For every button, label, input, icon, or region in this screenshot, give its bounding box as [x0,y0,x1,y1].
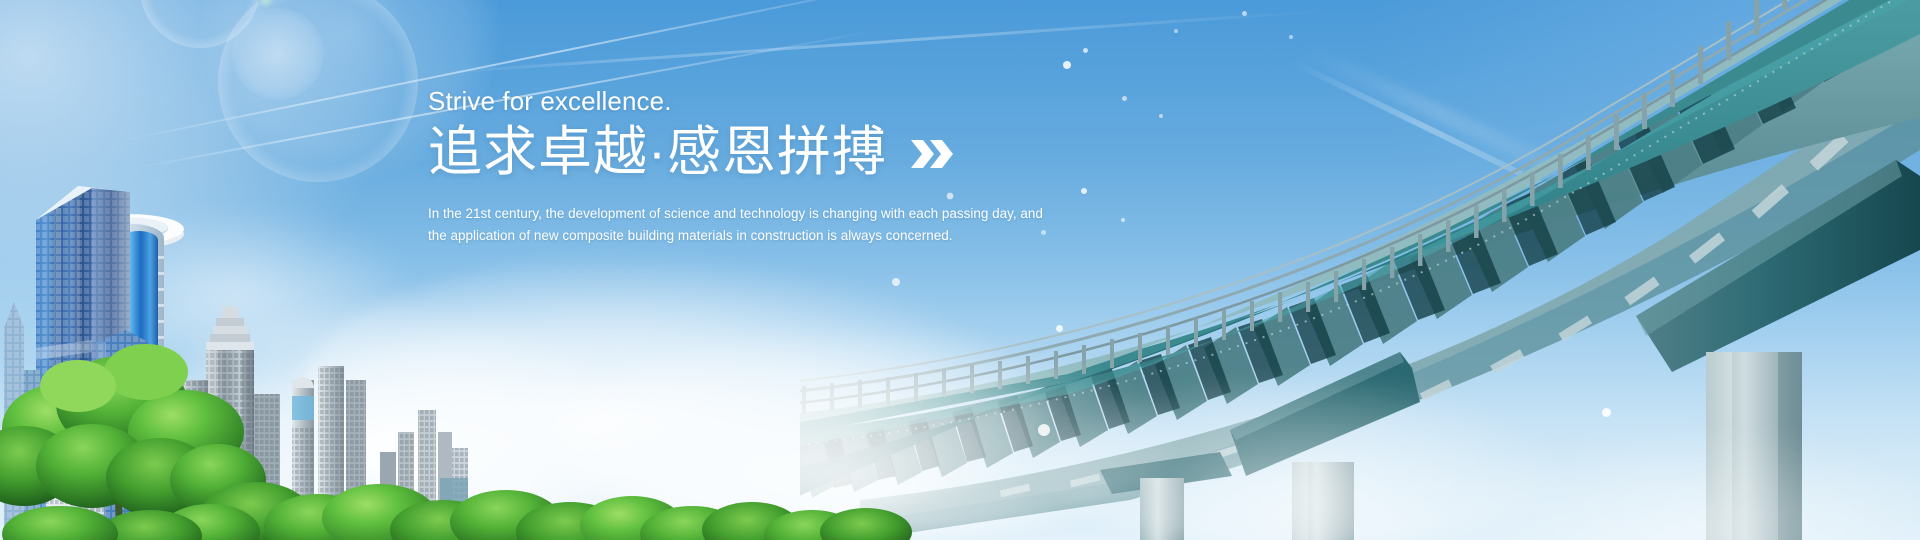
eyebrow-text: Strive for excellence. [428,88,1068,114]
banner-description-line2: the application of new composite buildin… [428,225,1028,247]
page-title: 追求卓越·感恩拼搏 [428,124,887,181]
double-chevron-right-icon[interactable] [909,137,955,171]
banner-description: In the 21st century, the development of … [428,203,1028,247]
hero-banner: Strive for excellence. 追求卓越·感恩拼搏 In the … [0,0,1920,540]
headline-row: 追求卓越·感恩拼搏 [428,124,1068,181]
banner-copy: Strive for excellence. 追求卓越·感恩拼搏 In the … [428,88,1068,246]
banner-description-line1: In the 21st century, the development of … [428,203,1028,225]
tree-canopy [0,340,1000,540]
